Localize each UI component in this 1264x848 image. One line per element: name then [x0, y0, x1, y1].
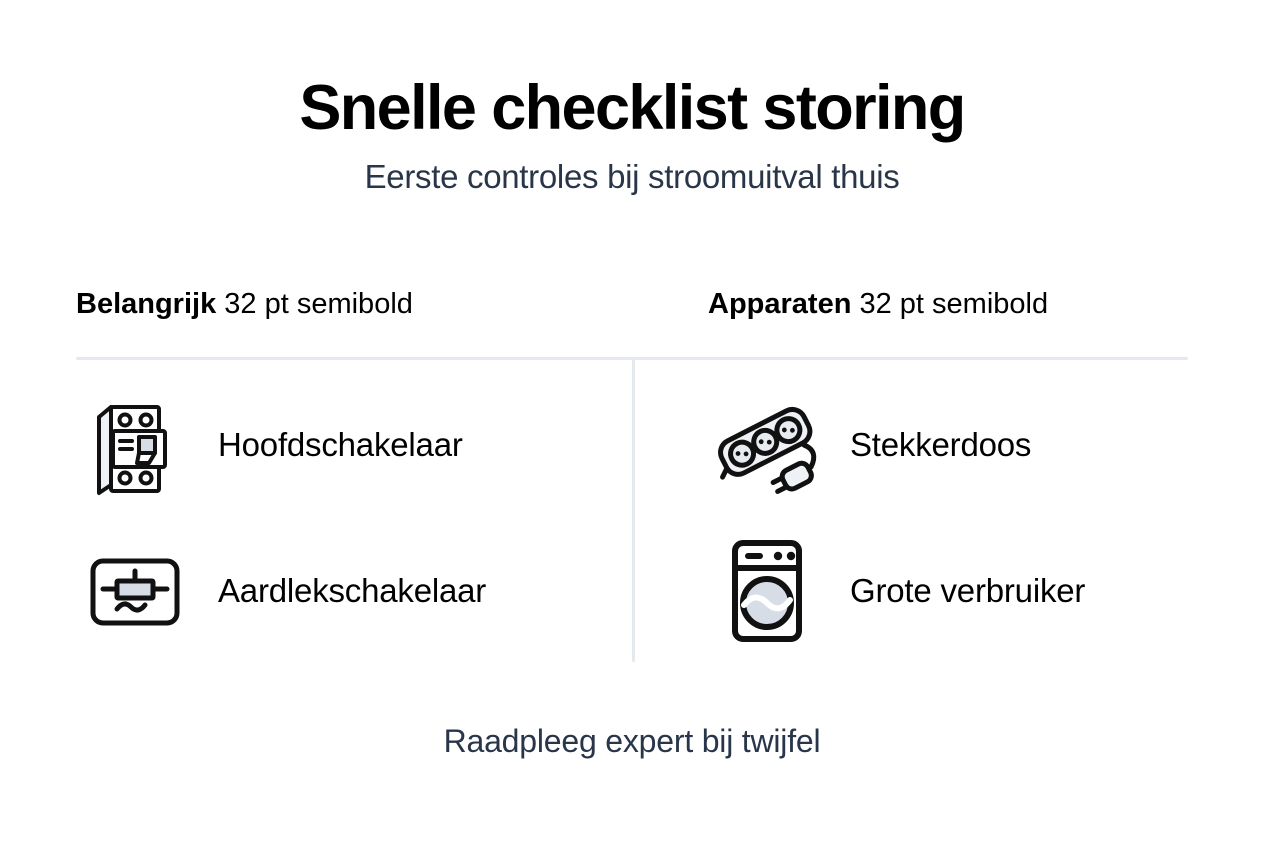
power-strip-icon [708, 386, 826, 504]
list-item: Aardlekschakelaar [76, 532, 632, 650]
column-headings: Belangrijk 32 pt semibold Apparaten 32 p… [76, 286, 1188, 322]
column-heading-text-right: Apparaten 32 pt semibold [708, 286, 1188, 322]
column-heading-strong-right: Apparaten [708, 288, 851, 320]
page-title: Snelle checklist storing [0, 76, 1264, 140]
rcd-switch-icon [76, 532, 194, 650]
column-heading-apparaten: Apparaten 32 pt semibold [632, 286, 1188, 322]
checklist-items: Hoofdschakelaar [76, 386, 1188, 650]
page-subtitle: Eerste controles bij stroomuitval thuis [0, 158, 1264, 196]
list-item-label: Hoofdschakelaar [194, 425, 463, 465]
list-item: Grote verbruiker [708, 532, 1188, 650]
list-item-label: Stekkerdoos [826, 425, 1031, 465]
list-item: Hoofdschakelaar [76, 386, 632, 504]
item-column-belangrijk: Hoofdschakelaar [76, 386, 632, 650]
column-heading-rest-left: 32 pt semibold [216, 288, 413, 320]
list-item: Stekkerdoos [708, 386, 1188, 504]
column-heading-belangrijk: Belangrijk 32 pt semibold [76, 286, 632, 322]
footer-block: Raadpleeg expert bij twijfel [0, 722, 1264, 760]
header-block: Snelle checklist storing Eerste controle… [0, 76, 1264, 196]
infographic-canvas: Snelle checklist storing Eerste controle… [0, 0, 1264, 848]
circuit-breaker-icon [76, 386, 194, 504]
footer-note: Raadpleeg expert bij twijfel [0, 722, 1264, 760]
list-item-label: Aardlekschakelaar [194, 571, 486, 611]
item-column-apparaten: Stekkerdoos [632, 386, 1188, 650]
column-heading-strong-left: Belangrijk [76, 288, 216, 320]
column-heading-rest-right: 32 pt semibold [851, 288, 1048, 320]
list-item-label: Grote verbruiker [826, 571, 1085, 611]
washing-machine-icon [708, 532, 826, 650]
column-heading-text-left: Belangrijk 32 pt semibold [76, 286, 632, 322]
